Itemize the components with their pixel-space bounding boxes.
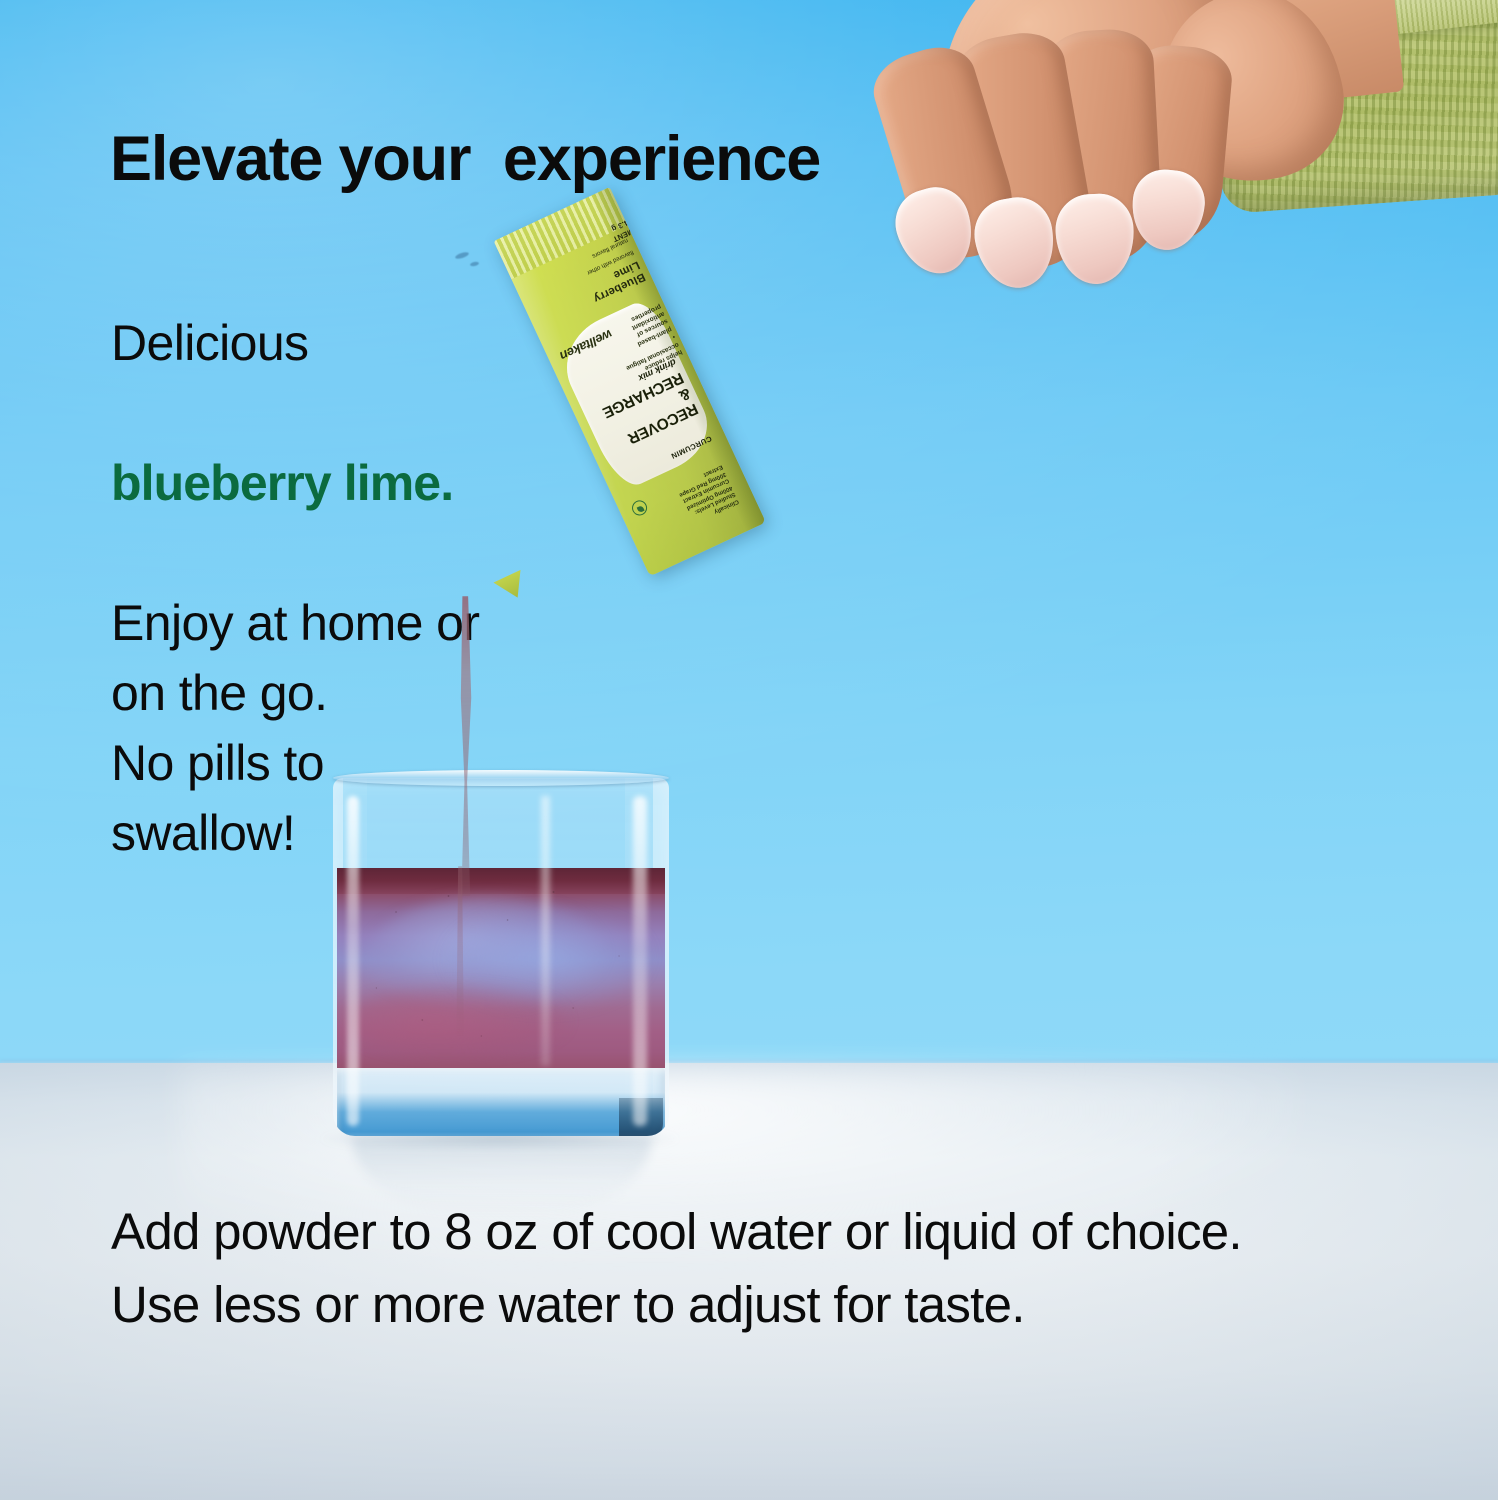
lede-line-1: Delicious	[111, 315, 308, 371]
glass-body	[333, 778, 669, 1136]
usage-instructions: Add powder to 8 oz of cool water or liqu…	[111, 1195, 1242, 1341]
glass-rim	[333, 770, 669, 786]
glass-highlight-right	[633, 796, 647, 1126]
fingernail-ring	[1054, 192, 1137, 286]
glass-base	[337, 1068, 665, 1136]
glass-highlight-left	[347, 796, 359, 1126]
drinking-glass	[333, 770, 669, 1142]
product-lifestyle-graphic: DIETARY SUPPLEMENT NET WT 4.3 g (0.15 OZ…	[0, 0, 1498, 1500]
flavor-highlight: blueberry lime.	[111, 455, 453, 511]
page-title: Elevate your experience	[110, 128, 820, 191]
powder-granules	[337, 868, 665, 1068]
mixed-drink-liquid	[337, 868, 665, 1068]
glass-highlight-center	[541, 796, 550, 1066]
